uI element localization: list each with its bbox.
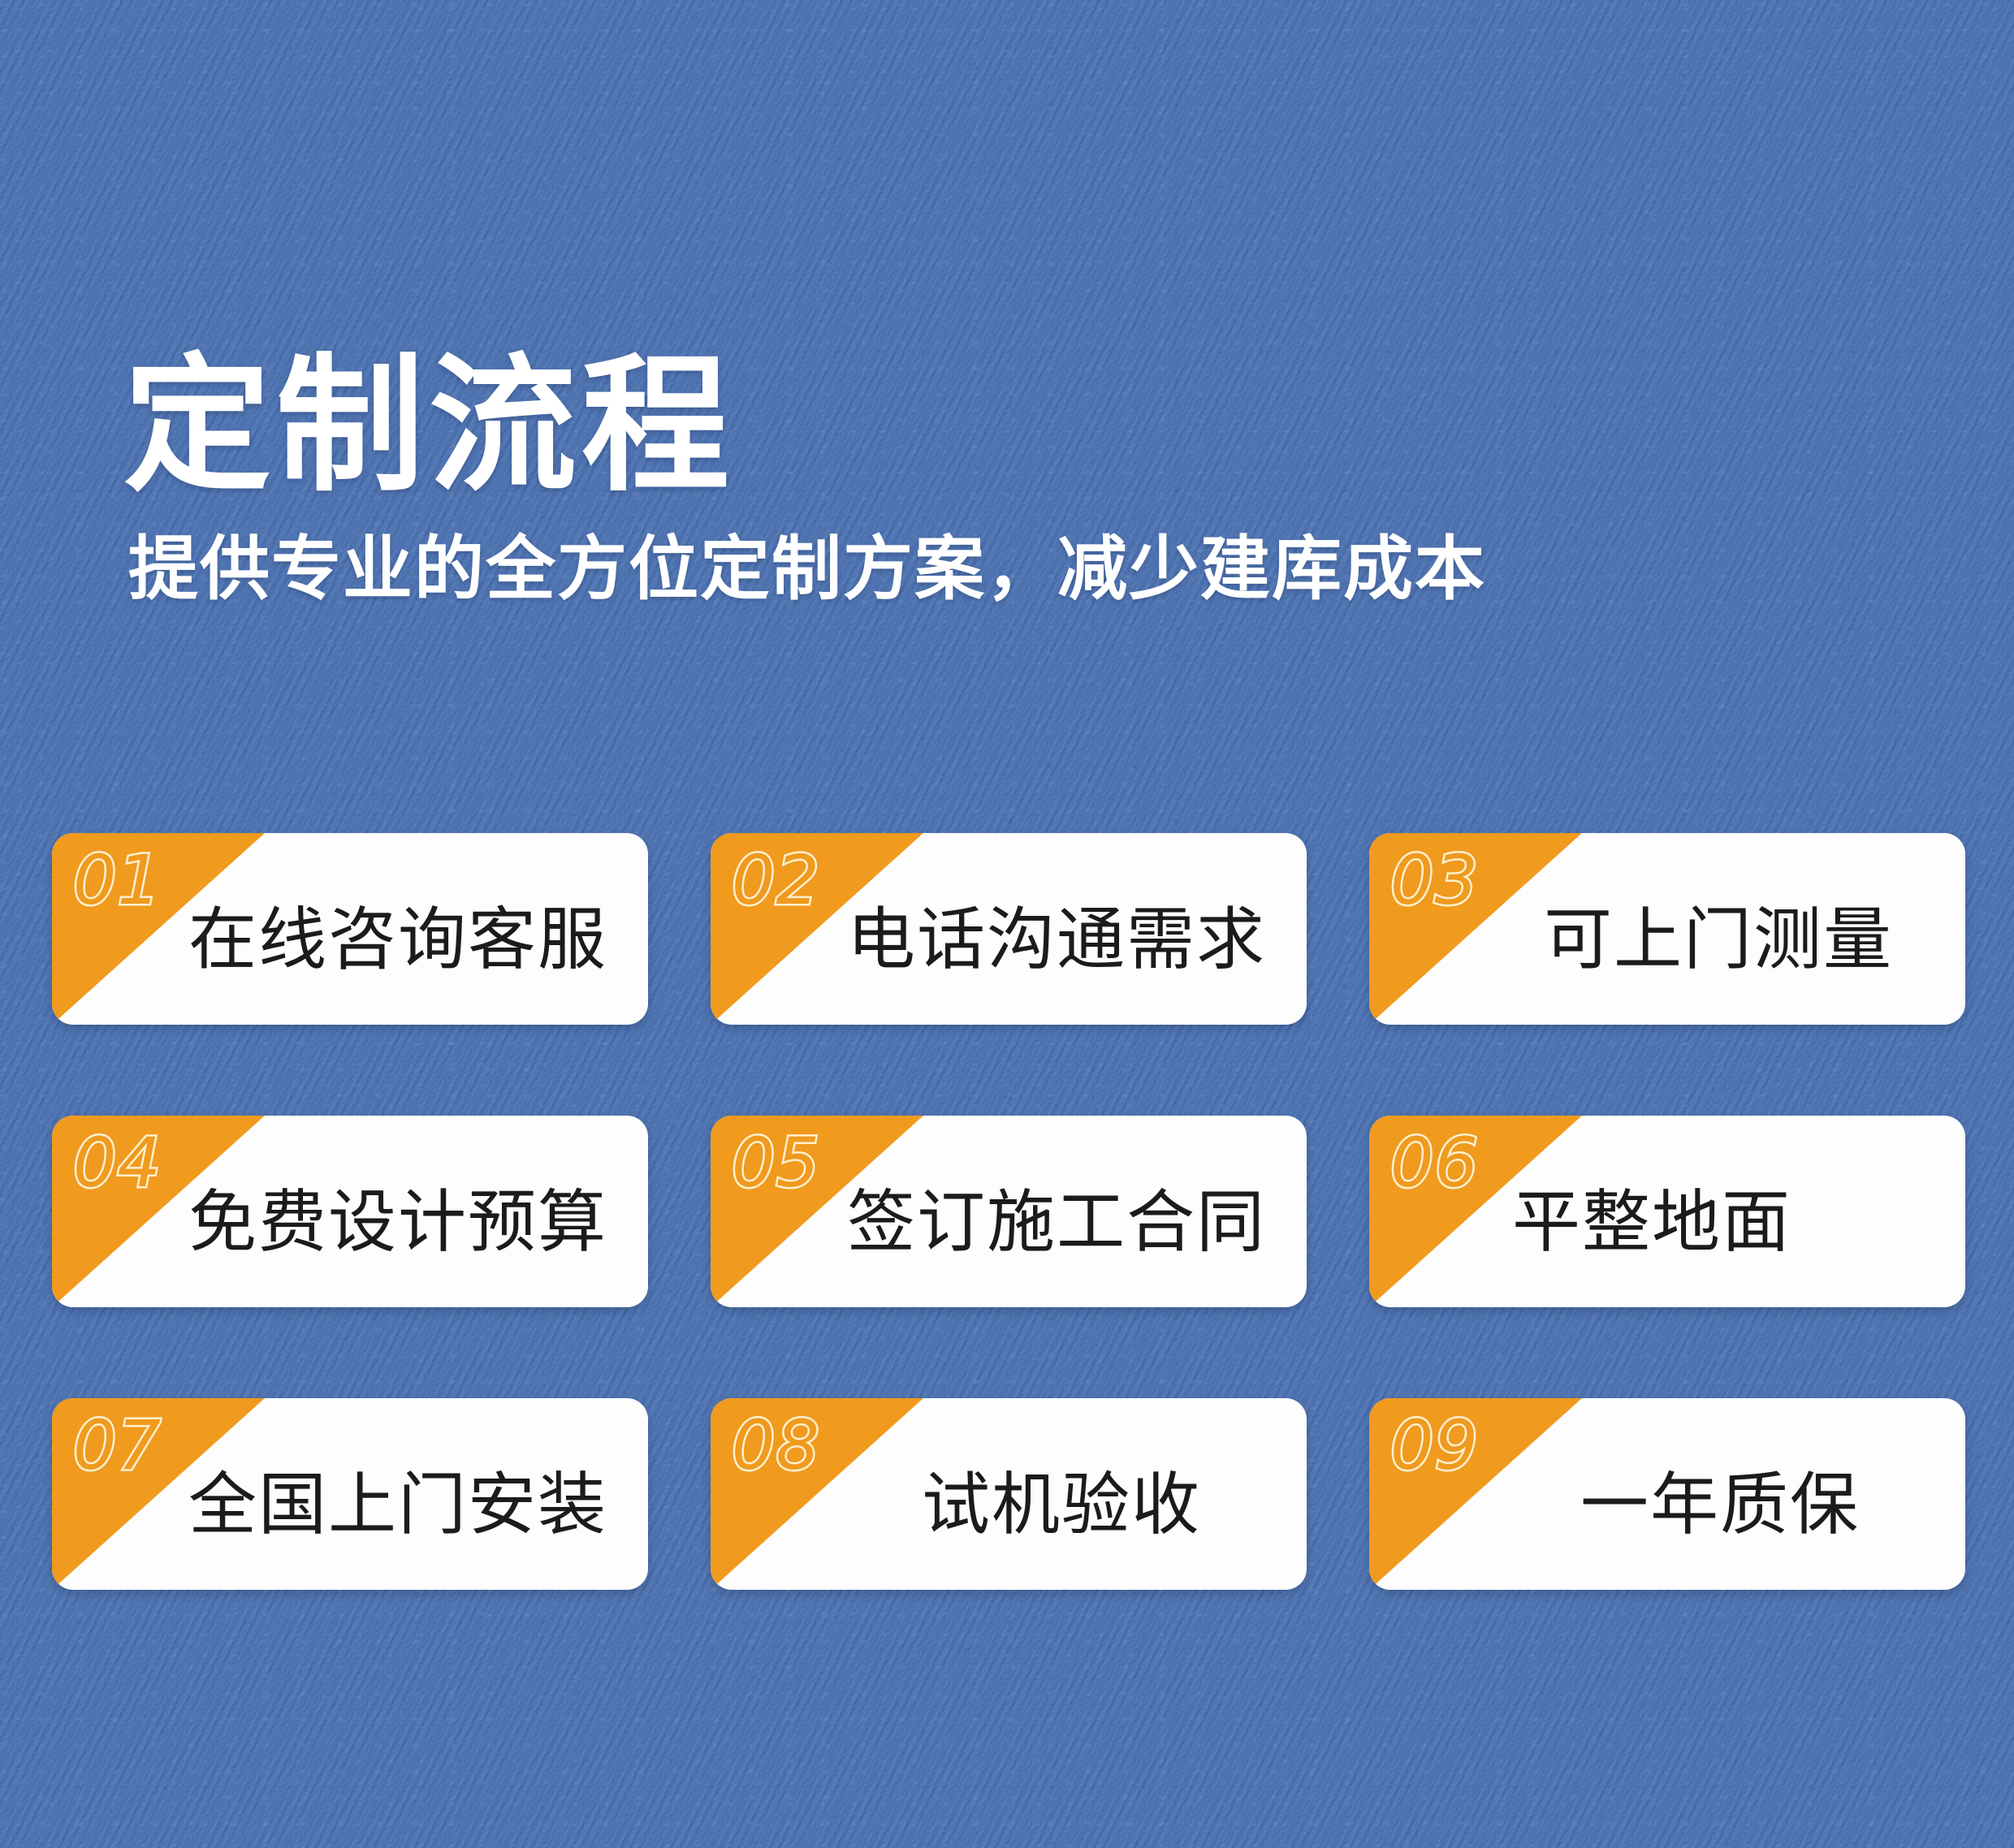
step-card-08[interactable]: 08 试机验收: [711, 1398, 1307, 1590]
step-label: 试机验收: [711, 1449, 1307, 1539]
heading-block: 定制流程 提供专业的全方位定制方案，减少建库成本: [123, 351, 1486, 607]
step-label: 一年质保: [1369, 1449, 1965, 1539]
step-card-02[interactable]: 02 电话沟通需求: [711, 833, 1307, 1025]
step-label: 免费设计预算: [52, 1167, 648, 1256]
step-label: 全国上门安装: [52, 1449, 648, 1539]
step-card-03[interactable]: 03 可上门测量: [1369, 833, 1965, 1025]
step-label: 可上门测量: [1369, 884, 1965, 974]
step-card-04[interactable]: 04 免费设计预算: [52, 1116, 648, 1307]
step-card-09[interactable]: 09 一年质保: [1369, 1398, 1965, 1590]
step-card-06[interactable]: 06 平整地面: [1369, 1116, 1965, 1307]
step-label: 平整地面: [1369, 1167, 1965, 1256]
page-subtitle: 提供专业的全方位定制方案，减少建库成本: [128, 531, 1486, 608]
step-label: 电话沟通需求: [711, 884, 1307, 974]
step-label: 在线咨询客服: [52, 884, 648, 974]
process-steps-grid: 01 在线咨询客服 02 电话沟通需求 03 可上门测量 04 免费设计预算 0…: [52, 833, 1965, 1590]
page-title: 定制流程: [123, 351, 1486, 502]
step-label: 签订施工合同: [711, 1167, 1307, 1256]
step-card-07[interactable]: 07 全国上门安装: [52, 1398, 648, 1590]
step-card-01[interactable]: 01 在线咨询客服: [52, 833, 648, 1025]
step-card-05[interactable]: 05 签订施工合同: [711, 1116, 1307, 1307]
customization-process-poster: 定制流程 提供专业的全方位定制方案，减少建库成本 01 在线咨询客服 02 电话…: [0, 0, 2014, 1848]
